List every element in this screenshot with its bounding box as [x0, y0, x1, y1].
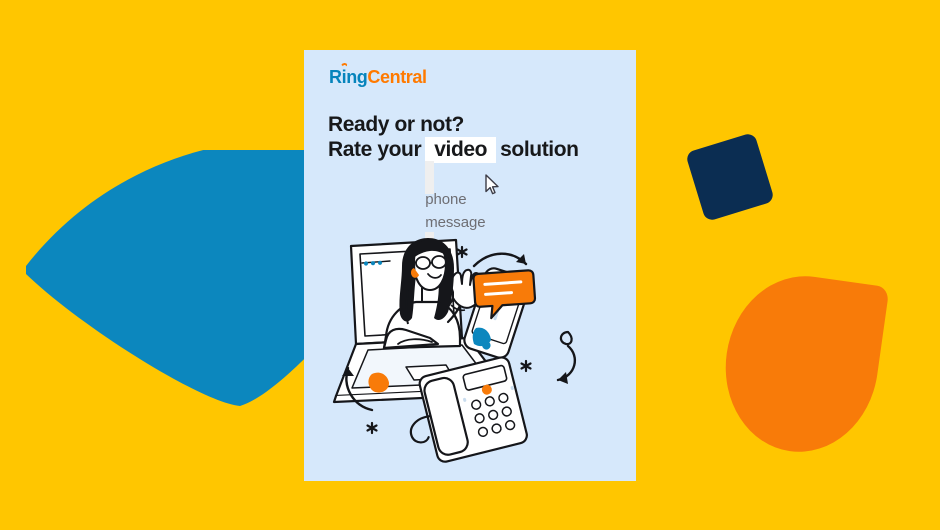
- logo-central-text: Central: [367, 67, 426, 87]
- collaboration-illustration: [310, 228, 630, 478]
- mouse-pointer-icon: [485, 174, 500, 195]
- ringcentral-logo: RingCentral: [329, 67, 427, 88]
- promo-card: RingCentral Ready or not? Rate your vide…: [304, 50, 636, 481]
- blue-fan-shape: [0, 150, 330, 410]
- logo-arc-icon: [340, 62, 350, 69]
- orange-teardrop-shape: [714, 266, 889, 461]
- headline-suffix: solution: [500, 137, 578, 162]
- navy-square-shape: [685, 132, 775, 222]
- promo-canvas: RingCentral Ready or not? Rate your vide…: [0, 0, 940, 530]
- headline-prefix: Rate your: [328, 137, 421, 162]
- dropdown-selected-value[interactable]: video: [425, 137, 496, 163]
- logo-ring-text: Ring: [329, 67, 367, 87]
- headline-line-one: Ready or not?: [328, 112, 618, 137]
